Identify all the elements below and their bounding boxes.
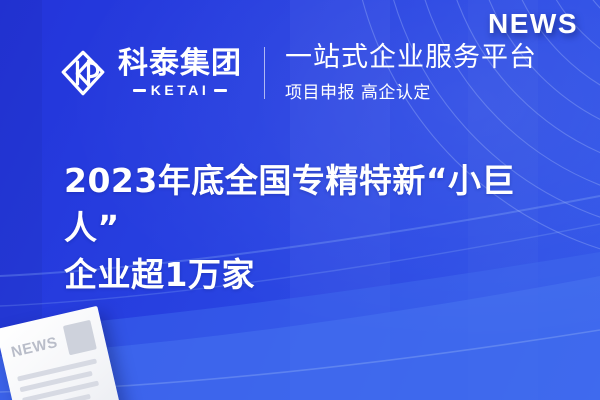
newspaper-thumbnail	[63, 320, 97, 356]
logo-name-en: KETAI	[151, 82, 209, 98]
tagline-sub: 项目申报 高企认定	[285, 78, 537, 103]
logo-dash-left	[133, 89, 146, 92]
logo-name-en-row: KETAI	[133, 82, 227, 98]
tagline-main: 一站式企业服务平台	[285, 43, 537, 73]
page-title: 2023年底全国专精特新“小巨人” 企业超1万家	[64, 158, 564, 299]
ketai-kp-diamond-icon	[60, 49, 106, 97]
news-badge: NEWS	[488, 8, 578, 40]
header-divider	[264, 47, 265, 99]
news-banner: NEWS 科泰集团 KETAI 一站式企业服务平台 项目申报 高企认定	[0, 0, 600, 400]
newspaper-masthead: NEWS	[10, 335, 59, 360]
tagline-block: 一站式企业服务平台 项目申报 高企认定	[285, 43, 537, 102]
headline-line-1: 2023年底全国专精特新“小巨人”	[64, 158, 564, 252]
logo-wordmark: 科泰集团 KETAI	[118, 48, 242, 99]
logo-name-cn: 科泰集团	[118, 48, 242, 80]
headline-line-2: 企业超1万家	[64, 252, 564, 299]
logo-dash-right	[214, 89, 227, 92]
brand-header: 科泰集团 KETAI 一站式企业服务平台 项目申报 高企认定	[60, 40, 537, 106]
